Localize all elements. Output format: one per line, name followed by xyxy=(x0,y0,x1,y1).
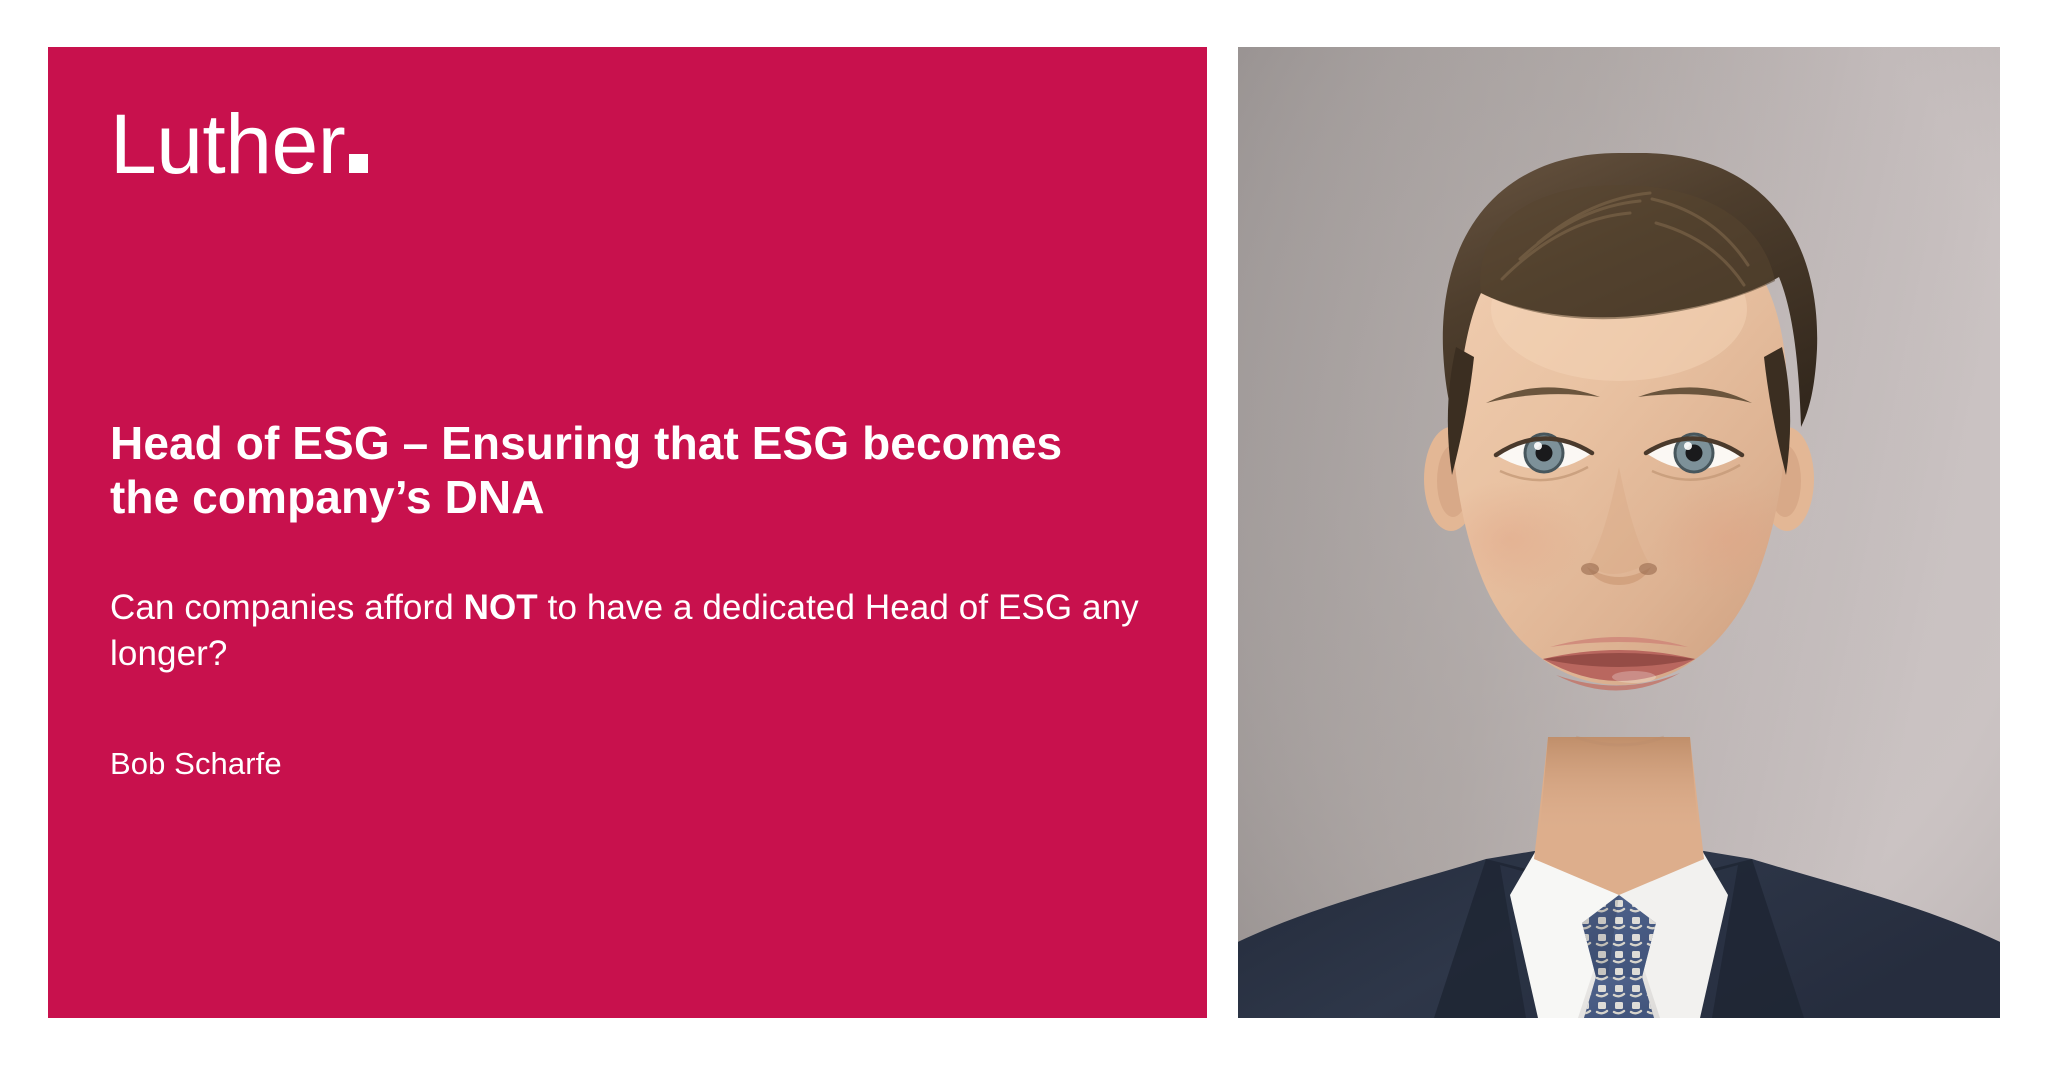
panel-text-block: Head of ESG – Ensuring that ESG becomes … xyxy=(110,417,1140,782)
crimson-content-panel: Luther Head of ESG – Ensuring that ESG b… xyxy=(48,47,1207,1018)
portrait-illustration xyxy=(1238,47,2000,1018)
subtitle-part-before: Can companies afford xyxy=(110,588,464,627)
square-period-icon xyxy=(349,154,368,173)
luther-logo: Luther xyxy=(110,102,368,186)
subtitle-question: Can companies afford NOT to have a dedic… xyxy=(110,525,1140,677)
subtitle-emphasis: NOT xyxy=(464,588,538,627)
page-title: Head of ESG – Ensuring that ESG becomes … xyxy=(110,417,1140,525)
luther-logo-wordmark: Luther xyxy=(110,97,345,191)
portrait-photo xyxy=(1238,47,2000,1018)
author-name: Bob Scharfe xyxy=(110,677,1140,782)
slide-canvas: Luther Head of ESG – Ensuring that ESG b… xyxy=(0,0,2048,1067)
